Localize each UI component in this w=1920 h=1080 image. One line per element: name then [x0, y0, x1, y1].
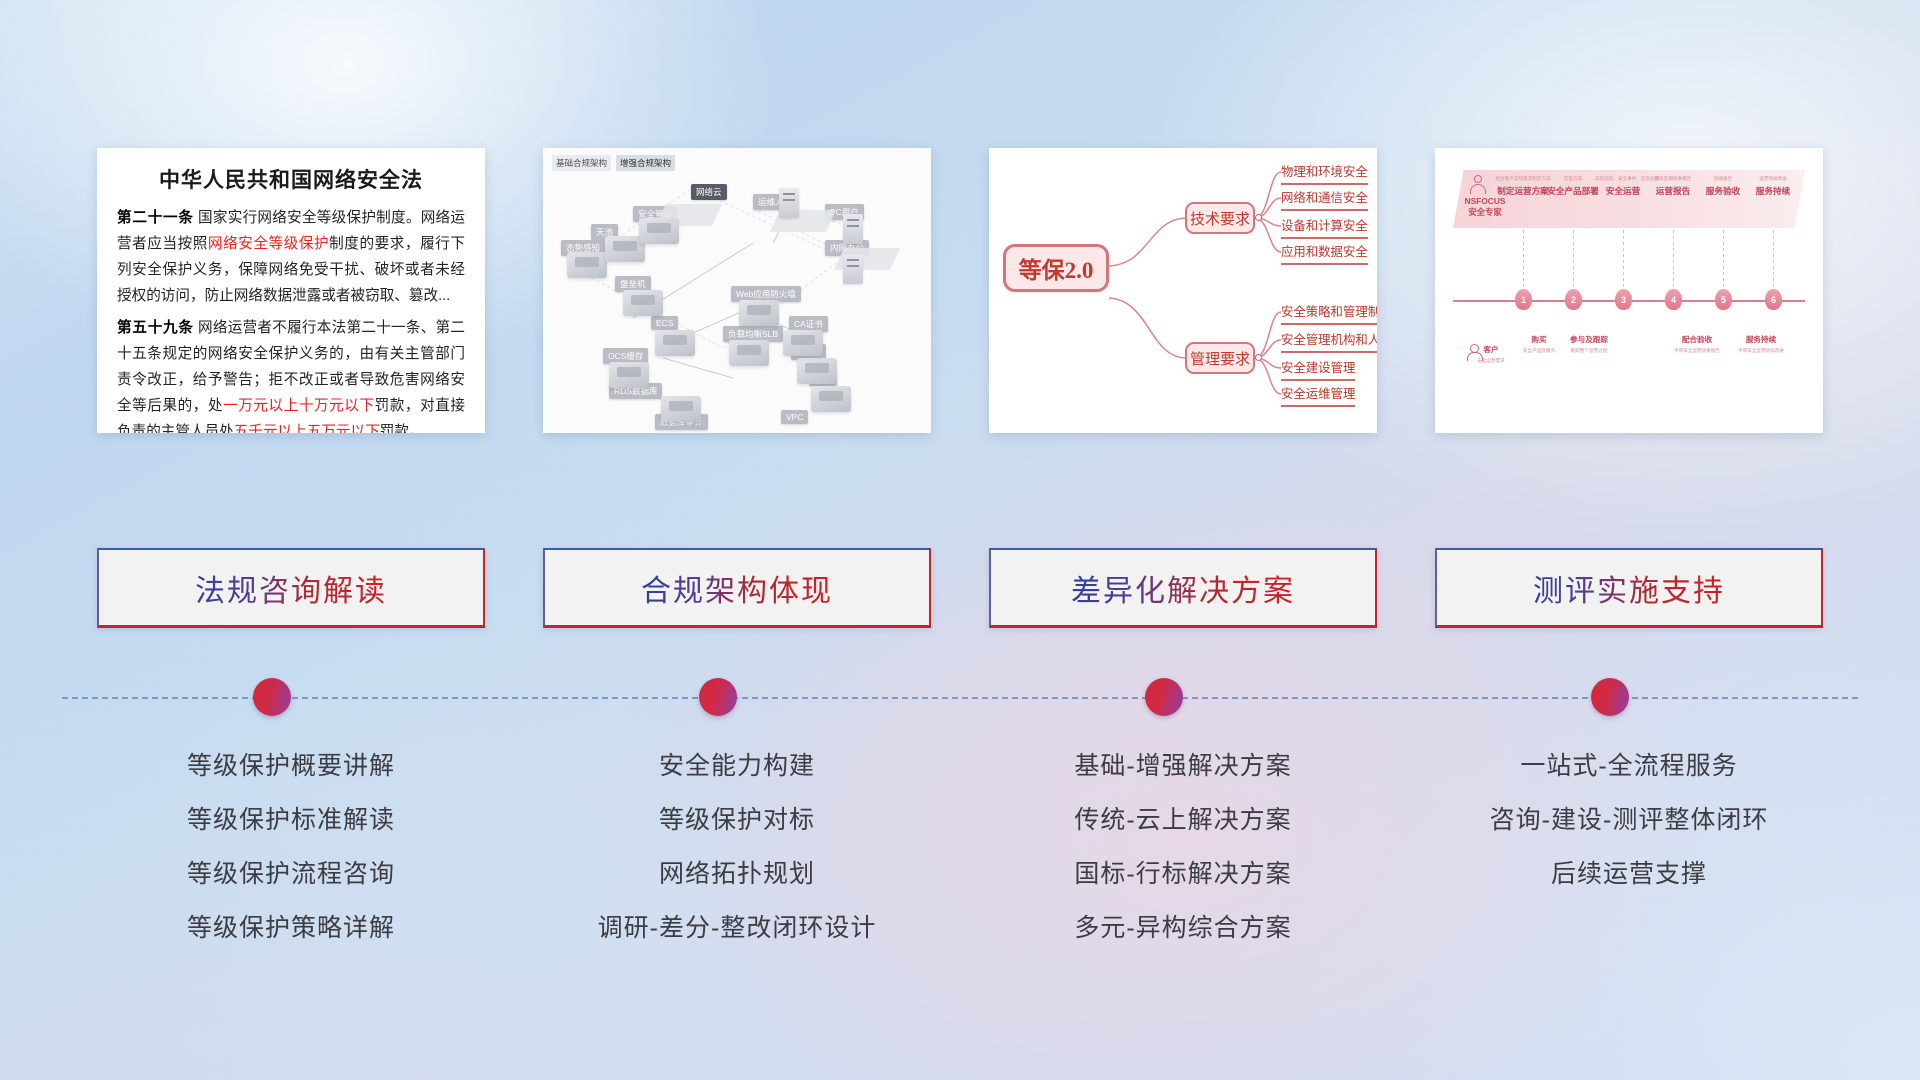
mindmap-leaf: 设备和计算安全 — [1281, 216, 1368, 239]
timeline-dot-0[interactable] — [253, 678, 291, 716]
nsfocus-brand-sub: 安全专家 — [1457, 207, 1513, 218]
nsfocus-footer-sub: 评审安全运营持续改进 — [1731, 348, 1791, 353]
section-lists-row: 等级保护概要讲解等级保护标准解读等级保护流程咨询等级保护策略详解 安全能力构建等… — [0, 740, 1920, 956]
card-law-text: 中华人民共和国网络安全法 第二十一条 国家实行网络安全等级保护制度。网络运营者应… — [97, 148, 485, 433]
nsfocus-footer-title: 服务持续 — [1731, 334, 1791, 345]
nsfocus-node-4[interactable]: 4 — [1665, 289, 1682, 310]
section-headline-label: 法规咨询解读 — [195, 566, 387, 610]
nsfocus-node-2[interactable]: 2 — [1565, 289, 1582, 310]
law-article-number: 第二十一条 — [117, 210, 194, 226]
mindmap-leaf: 安全运维管理 — [1281, 384, 1355, 407]
card-architecture-diagram: 基础合规架构 增强合规架构 网络云安全管家天池态势感知堡垒机ECSOCS缓存RD… — [543, 148, 931, 433]
list-item: 国标-行标解决方案 — [989, 848, 1377, 902]
section-list-0: 等级保护概要讲解等级保护标准解读等级保护流程咨询等级保护策略详解 — [97, 740, 485, 956]
arch-device-icon — [655, 330, 695, 356]
nsfocus-step-sub: 运营持续改进 — [1745, 176, 1801, 181]
nsfocus-step-tick — [1523, 230, 1524, 288]
law-paragraph: 第五十九条 网络运营者不履行本法第二十一条、第二十五条规定的网络安全保护义务的，… — [117, 316, 465, 433]
nsfocus-node-1[interactable]: 1 — [1515, 289, 1532, 310]
nsfocus-step-sub: 阶段定期效果报告 — [1645, 176, 1701, 181]
nsfocus-step-5: 验收报告服务验收 — [1695, 176, 1751, 197]
section-headline-row: 法规咨询解读 合规架构体现 差异化解决方案 测评实施支持 — [0, 548, 1920, 628]
nsfocus-step-1: 结合客户实际需求制定方案制定运营方案 — [1495, 176, 1551, 197]
section-list-1: 安全能力构建等级保护对标网络拓扑规划调研-差分-整改闭环设计 — [543, 740, 931, 956]
list-item: 安全能力构建 — [543, 740, 931, 794]
nsfocus-footer-sub: 评审安全运营效果报告 — [1667, 348, 1727, 353]
arch-server-icon — [779, 188, 799, 218]
law-article-number: 第五十九条 — [117, 320, 194, 336]
nsfocus-footer-title: 参与及跟踪 — [1559, 334, 1619, 345]
mindmap-branch-management: 管理要求 — [1185, 342, 1255, 374]
law-highlight-text: 一万元以上十万元以下 — [223, 398, 375, 414]
security-expert-icon — [1469, 175, 1487, 195]
nsfocus-step-6: 运营持续改进服务持续 — [1745, 176, 1801, 197]
nsfocus-footer-title: 配合验收 — [1667, 334, 1727, 345]
list-item: 等级保护概要讲解 — [97, 740, 485, 794]
law-body: 第二十一条 国家实行网络安全等级保护制度。网络运营者应当按照网络安全等级保护制度… — [117, 206, 465, 433]
list-item: 等级保护策略详解 — [97, 902, 485, 956]
nsfocus-step-sub: 结合客户实际需求制定方案 — [1495, 176, 1551, 181]
nsfocus-node-6[interactable]: 6 — [1765, 289, 1782, 310]
nsfocus-node-3[interactable]: 3 — [1615, 289, 1632, 310]
mindmap-leaf: 物理和环境安全 — [1281, 162, 1368, 185]
nsfocus-step-tick — [1673, 230, 1674, 288]
arch-device-icon — [623, 290, 663, 316]
arch-device-icon — [639, 218, 679, 244]
mindmap-leaf: 网络和通信安全 — [1281, 188, 1368, 211]
section-list-3: 一站式-全流程服务咨询-建设-测评整体闭环后续运营支撑 — [1435, 740, 1823, 956]
section-headline-1[interactable]: 合规架构体现 — [543, 548, 931, 628]
card-nsfocus-timeline: NSFOCUS 安全专家 结合客户实际需求制定方案制定运营方案实施方案安全产品部… — [1435, 148, 1823, 433]
nsfocus-step-sub: 验收报告 — [1695, 176, 1751, 181]
arch-node-label: 网络云 — [691, 184, 727, 200]
timeline-dots — [0, 678, 1920, 718]
arch-device-icon — [783, 330, 823, 356]
card-mind-map: 等保2.0 技术要求 管理要求 物理和环境安全网络和通信安全设备和计算安全应用和… — [989, 148, 1377, 433]
section-headline-3[interactable]: 测评实施支持 — [1435, 548, 1823, 628]
arch-device-icon — [811, 386, 851, 412]
mindmap-collapse-dot[interactable] — [1255, 214, 1262, 221]
mindmap-collapse-dot[interactable] — [1255, 354, 1262, 361]
nsfocus-node-5[interactable]: 5 — [1715, 289, 1732, 310]
mindmap-branch-technical: 技术要求 — [1185, 202, 1255, 234]
list-item: 多元-异构综合方案 — [989, 902, 1377, 956]
nsfocus-step-title: 安全运营 — [1595, 185, 1651, 197]
nsfocus-step-tick — [1773, 230, 1774, 288]
nsfocus-footer-item: 服务持续评审安全运营持续改进 — [1731, 334, 1791, 353]
list-item: 咨询-建设-测评整体闭环 — [1435, 794, 1823, 848]
image-cards-row: 中华人民共和国网络安全法 第二十一条 国家实行网络安全等级保护制度。网络运营者应… — [0, 148, 1920, 443]
nsfocus-step-tick — [1723, 230, 1724, 288]
list-item: 后续运营支撑 — [1435, 848, 1823, 902]
timeline-dot-1[interactable] — [699, 678, 737, 716]
nsfocus-step-tick — [1573, 230, 1574, 288]
arch-device-icon — [797, 358, 837, 384]
list-item: 一站式-全流程服务 — [1435, 740, 1823, 794]
arch-node-label: ECS — [651, 316, 678, 330]
law-highlight-text: 五千元以上五万元以下 — [234, 424, 380, 433]
nsfocus-step-2: 实施方案安全产品部署 — [1545, 176, 1601, 197]
section-headline-label: 测评实施支持 — [1533, 566, 1725, 610]
nsfocus-step-title: 服务验收 — [1695, 185, 1751, 197]
list-item: 网络拓扑规划 — [543, 848, 931, 902]
mindmap-root: 等保2.0 — [1003, 244, 1109, 292]
list-item: 等级保护流程咨询 — [97, 848, 485, 902]
section-headline-0[interactable]: 法规咨询解读 — [97, 548, 485, 628]
nsfocus-footer-item: 配合验收评审安全运营效果报告 — [1667, 334, 1727, 353]
arch-device-icon — [739, 300, 779, 326]
nsfocus-step-tick — [1623, 230, 1624, 288]
timeline-dot-3[interactable] — [1591, 678, 1629, 716]
arch-device-icon — [729, 340, 769, 366]
nsfocus-step-sub: 日常巡检、安全事件、应急处置 — [1595, 176, 1651, 181]
law-highlight-text: 网络安全等级保护 — [208, 236, 329, 252]
mindmap-leaf: 应用和数据安全 — [1281, 242, 1368, 265]
arch-server-icon — [843, 214, 863, 244]
arch-device-icon — [661, 396, 701, 422]
mindmap-leaf: 安全建设管理 — [1281, 358, 1355, 381]
nsfocus-step-3: 日常巡检、安全事件、应急处置安全运营 — [1595, 176, 1651, 197]
list-item: 传统-云上解决方案 — [989, 794, 1377, 848]
nsfocus-step-title: 安全产品部署 — [1545, 185, 1601, 197]
arch-device-icon — [567, 252, 607, 278]
nsfocus-footer-sub: 安全运营需求 — [1461, 358, 1521, 363]
list-item: 调研-差分-整改闭环设计 — [543, 902, 931, 956]
mindmap-leaf: 安全管理机构和人员 — [1281, 330, 1377, 353]
section-list-2: 基础-增强解决方案传统-云上解决方案国标-行标解决方案多元-异构综合方案 — [989, 740, 1377, 956]
list-item: 等级保护对标 — [543, 794, 931, 848]
nsfocus-step-title: 运营报告 — [1645, 185, 1701, 197]
nsfocus-step-4: 阶段定期效果报告运营报告 — [1645, 176, 1701, 197]
section-headline-label: 合规架构体现 — [641, 566, 833, 610]
list-item: 等级保护标准解读 — [97, 794, 485, 848]
arch-device-icon — [609, 362, 649, 388]
nsfocus-brand-name: NSFOCUS — [1457, 196, 1513, 207]
timeline-dot-2[interactable] — [1145, 678, 1183, 716]
arch-node-label: VPC — [781, 410, 808, 424]
mindmap-leaf: 安全策略和管理制度 — [1281, 302, 1377, 325]
nsfocus-step-sub: 实施方案 — [1545, 176, 1601, 181]
nsfocus-footer-item: 参与及跟踪跟踪整个运营过程 — [1559, 334, 1619, 353]
nsfocus-brand: NSFOCUS 安全专家 — [1457, 196, 1513, 217]
list-item: 基础-增强解决方案 — [989, 740, 1377, 794]
section-headline-2[interactable]: 差异化解决方案 — [989, 548, 1377, 628]
nsfocus-step-title: 制定运营方案 — [1495, 185, 1551, 197]
nsfocus-footer-sub: 跟踪整个运营过程 — [1559, 348, 1619, 353]
section-headline-label: 差异化解决方案 — [1071, 566, 1295, 610]
law-text: 罚款。 — [380, 424, 424, 433]
law-paragraph: 第二十一条 国家实行网络安全等级保护制度。网络运营者应当按照网络安全等级保护制度… — [117, 206, 465, 310]
arch-server-icon — [843, 254, 863, 284]
law-title: 中华人民共和国网络安全法 — [117, 164, 465, 194]
nsfocus-step-title: 服务持续 — [1745, 185, 1801, 197]
